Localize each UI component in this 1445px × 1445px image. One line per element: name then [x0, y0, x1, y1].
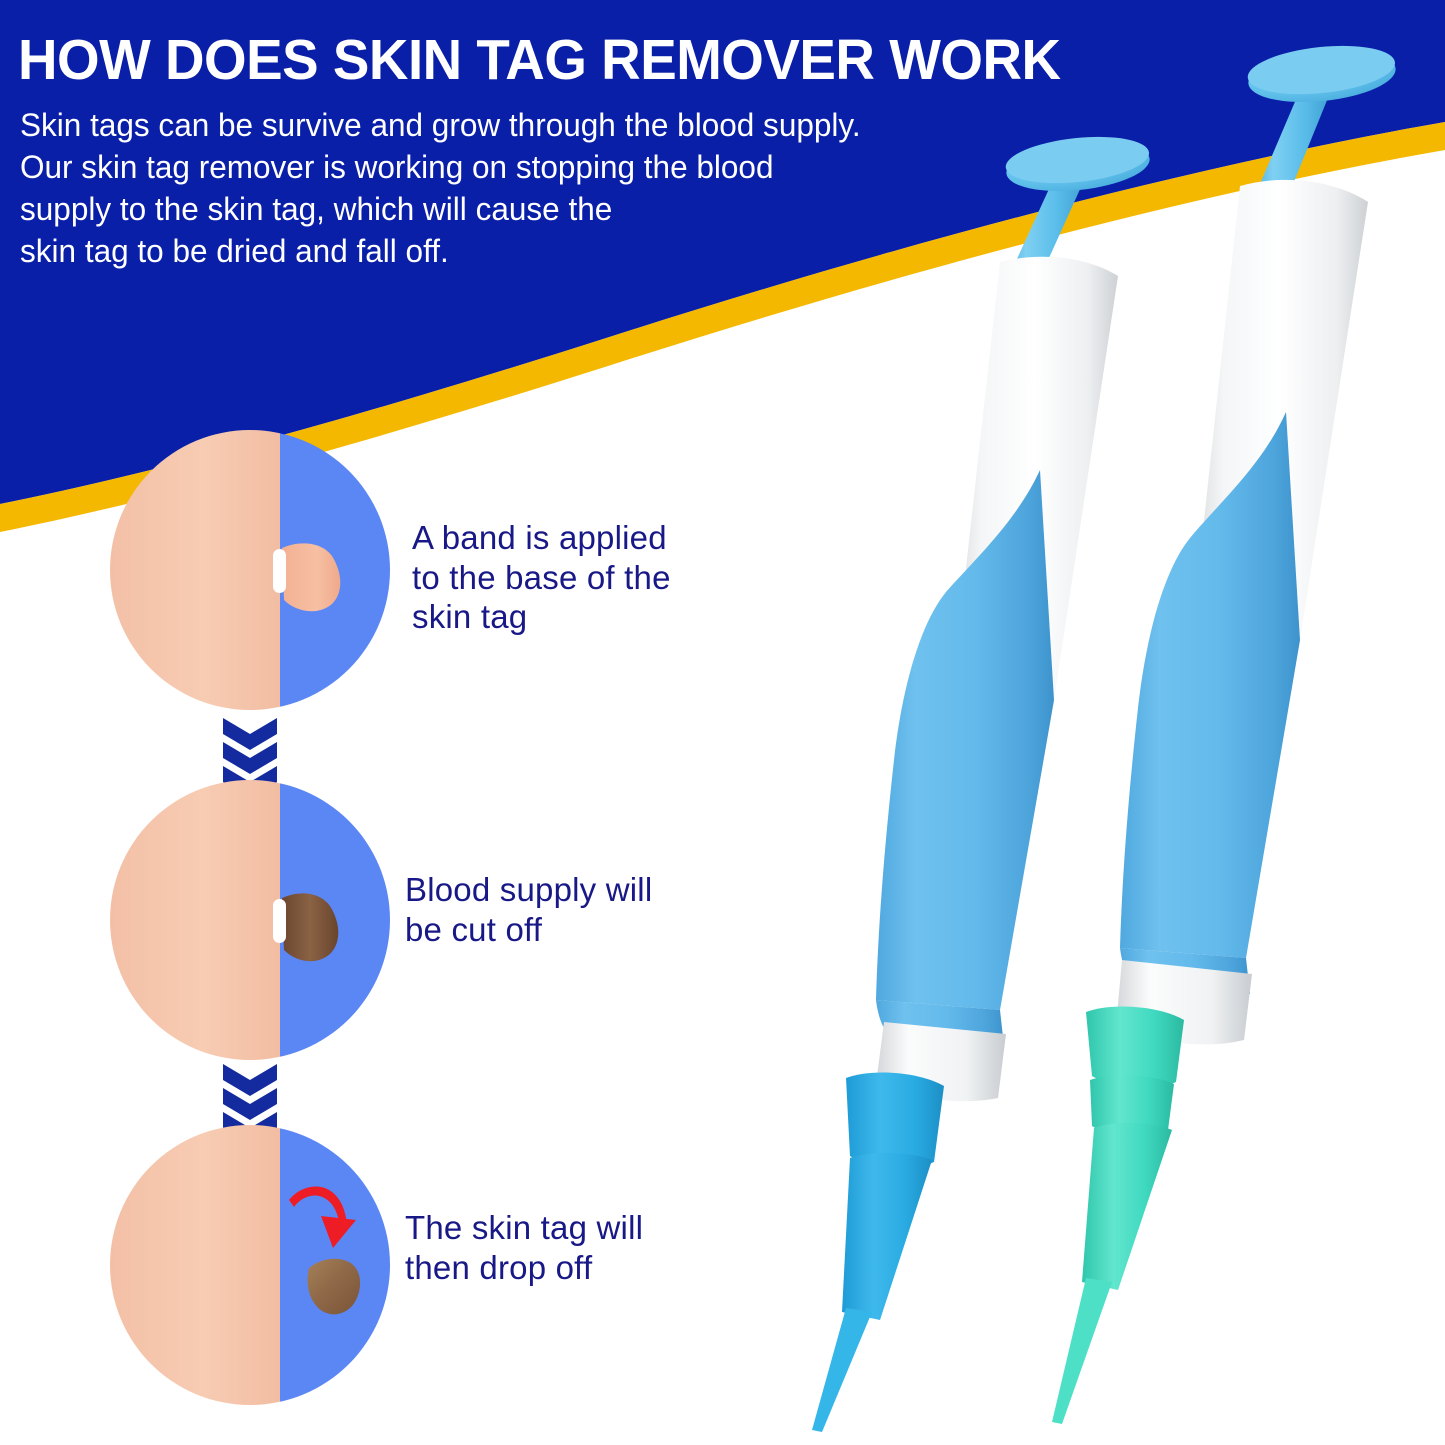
step-3-caption-line-2: then drop off — [405, 1248, 643, 1288]
step-1-caption: A band is applied to the base of the ski… — [412, 518, 671, 637]
infographic-page: HOW DOES SKIN TAG REMOVER WORK Skin tags… — [0, 0, 1445, 1445]
banner-body-line-2: Our skin tag remover is working on stopp… — [20, 146, 971, 188]
banner-body-line-4: skin tag to be dried and fall off. — [20, 230, 971, 272]
step-3-caption: The skin tag will then drop off — [405, 1208, 643, 1287]
banner-body-copy: Skin tags can be survive and grow throug… — [20, 104, 971, 272]
step-3-caption-line-1: The skin tag will — [405, 1208, 643, 1248]
step-2-caption: Blood supply will be cut off — [405, 870, 652, 949]
banner-body-line-3: supply to the skin tag, which will cause… — [20, 188, 971, 230]
step-2-caption-line-1: Blood supply will — [405, 870, 652, 910]
banner-body-line-1: Skin tags can be survive and grow throug… — [20, 104, 971, 146]
step-1-caption-line-1: A band is applied — [412, 518, 671, 558]
step-1-caption-line-3: skin tag — [412, 597, 671, 637]
page-title: HOW DOES SKIN TAG REMOVER WORK — [18, 32, 1132, 89]
text-layer: HOW DOES SKIN TAG REMOVER WORK Skin tags… — [0, 0, 1445, 1445]
step-1-caption-line-2: to the base of the — [412, 558, 671, 598]
step-2-caption-line-2: be cut off — [405, 910, 652, 950]
